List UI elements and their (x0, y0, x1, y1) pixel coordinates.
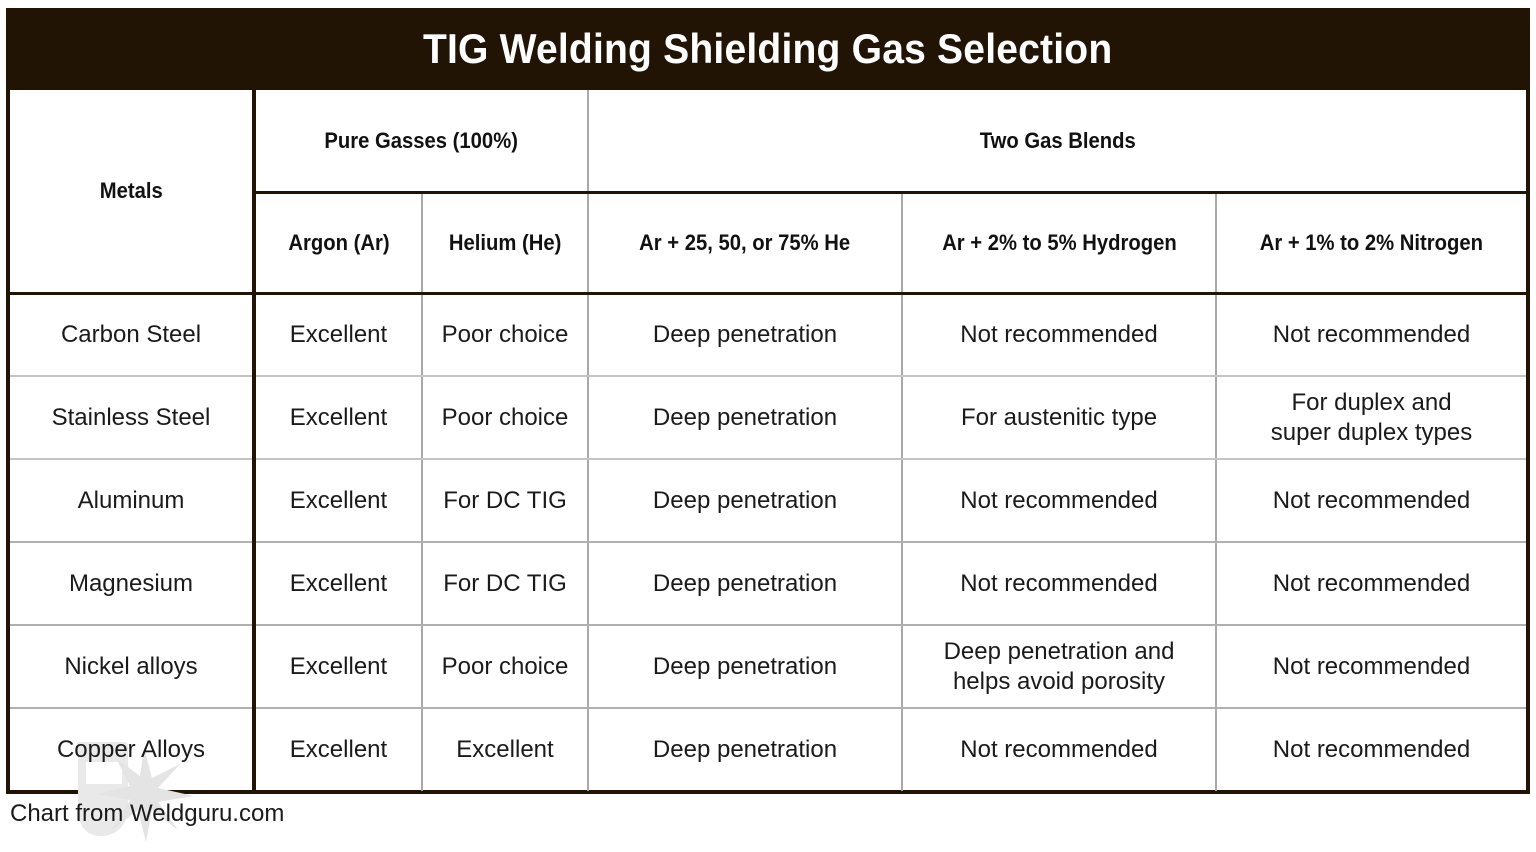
cell-copper-alloys-helium: Excellent (422, 708, 588, 791)
row-metal-stainless-steel: Stainless Steel (10, 376, 254, 459)
cell-copper-alloys-ar-hydrogen: Not recommended (902, 708, 1216, 791)
cell-carbon-steel-ar-nitrogen: Not recommended (1216, 293, 1526, 376)
row-metal-nickel-alloys: Nickel alloys (10, 625, 254, 708)
cell-copper-alloys-ar-nitrogen: Not recommended (1216, 708, 1526, 791)
cell-copper-alloys-argon: Excellent (254, 708, 422, 791)
cell-magnesium-argon: Excellent (254, 542, 422, 625)
header-col-helium: Helium (He) (422, 192, 588, 293)
cell-nickel-alloys-ar-he: Deep penetration (588, 625, 902, 708)
table-row: Magnesium Excellent For DC TIG Deep pene… (10, 542, 1526, 625)
cell-nickel-alloys-helium: Poor choice (422, 625, 588, 708)
row-metal-magnesium: Magnesium (10, 542, 254, 625)
cell-aluminum-argon: Excellent (254, 459, 422, 542)
cell-aluminum-ar-hydrogen: Not recommended (902, 459, 1216, 542)
table-row: Nickel alloys Excellent Poor choice Deep… (10, 625, 1526, 708)
header-metals: Metals (10, 90, 254, 293)
header-group-row: Metals Pure Gasses (100%) Two Gas Blends (10, 90, 1526, 192)
chart-source-attribution: Chart from Weldguru.com (10, 800, 284, 829)
header-col-argon: Argon (Ar) (254, 192, 422, 293)
header-group-two-gas-blends: Two Gas Blends (588, 90, 1526, 192)
cell-stainless-steel-argon: Excellent (254, 376, 422, 459)
cell-magnesium-helium: For DC TIG (422, 542, 588, 625)
cell-magnesium-ar-nitrogen: Not recommended (1216, 542, 1526, 625)
header-col-ar-he-blend: Ar + 25, 50, or 75% He (588, 192, 902, 293)
table-row: Stainless Steel Excellent Poor choice De… (10, 376, 1526, 459)
cell-stainless-steel-ar-nitrogen: For duplex andsuper duplex types (1216, 376, 1526, 459)
cell-stainless-steel-ar-hydrogen: For austenitic type (902, 376, 1216, 459)
row-metal-copper-alloys: Copper Alloys (10, 708, 254, 791)
cell-stainless-steel-ar-he: Deep penetration (588, 376, 902, 459)
cell-copper-alloys-ar-he: Deep penetration (588, 708, 902, 791)
table-row: Copper Alloys Excellent Excellent Deep p… (10, 708, 1526, 791)
header-col-ar-nitrogen-blend: Ar + 1% to 2% Nitrogen (1216, 192, 1526, 293)
cell-magnesium-ar-he: Deep penetration (588, 542, 902, 625)
cell-carbon-steel-argon: Excellent (254, 293, 422, 376)
table-body: Carbon Steel Excellent Poor choice Deep … (10, 293, 1526, 791)
cell-aluminum-ar-nitrogen: Not recommended (1216, 459, 1526, 542)
table-row: Carbon Steel Excellent Poor choice Deep … (10, 293, 1526, 376)
cell-nickel-alloys-ar-nitrogen: Not recommended (1216, 625, 1526, 708)
table-row: Aluminum Excellent For DC TIG Deep penet… (10, 459, 1526, 542)
cell-aluminum-helium: For DC TIG (422, 459, 588, 542)
cell-aluminum-ar-he: Deep penetration (588, 459, 902, 542)
cell-magnesium-ar-hydrogen: Not recommended (902, 542, 1216, 625)
header-col-ar-hydrogen-blend: Ar + 2% to 5% Hydrogen (902, 192, 1216, 293)
cell-carbon-steel-helium: Poor choice (422, 293, 588, 376)
cell-nickel-alloys-ar-hydrogen: Deep penetration andhelps avoid porosity (902, 625, 1216, 708)
table-header: Metals Pure Gasses (100%) Two Gas Blends… (10, 90, 1526, 293)
gas-selection-table-wrapper: Metals Pure Gasses (100%) Two Gas Blends… (6, 90, 1530, 794)
chart-container: TIG Welding Shielding Gas Selection (0, 0, 1536, 852)
cell-carbon-steel-ar-hydrogen: Not recommended (902, 293, 1216, 376)
row-metal-carbon-steel: Carbon Steel (10, 293, 254, 376)
row-metal-aluminum: Aluminum (10, 459, 254, 542)
chart-title: TIG Welding Shielding Gas Selection (423, 28, 1112, 70)
cell-nickel-alloys-argon: Excellent (254, 625, 422, 708)
cell-stainless-steel-helium: Poor choice (422, 376, 588, 459)
chart-title-bar: TIG Welding Shielding Gas Selection (6, 8, 1530, 90)
cell-carbon-steel-ar-he: Deep penetration (588, 293, 902, 376)
header-group-pure-gasses: Pure Gasses (100%) (254, 90, 588, 192)
gas-selection-table: Metals Pure Gasses (100%) Two Gas Blends… (10, 90, 1526, 791)
